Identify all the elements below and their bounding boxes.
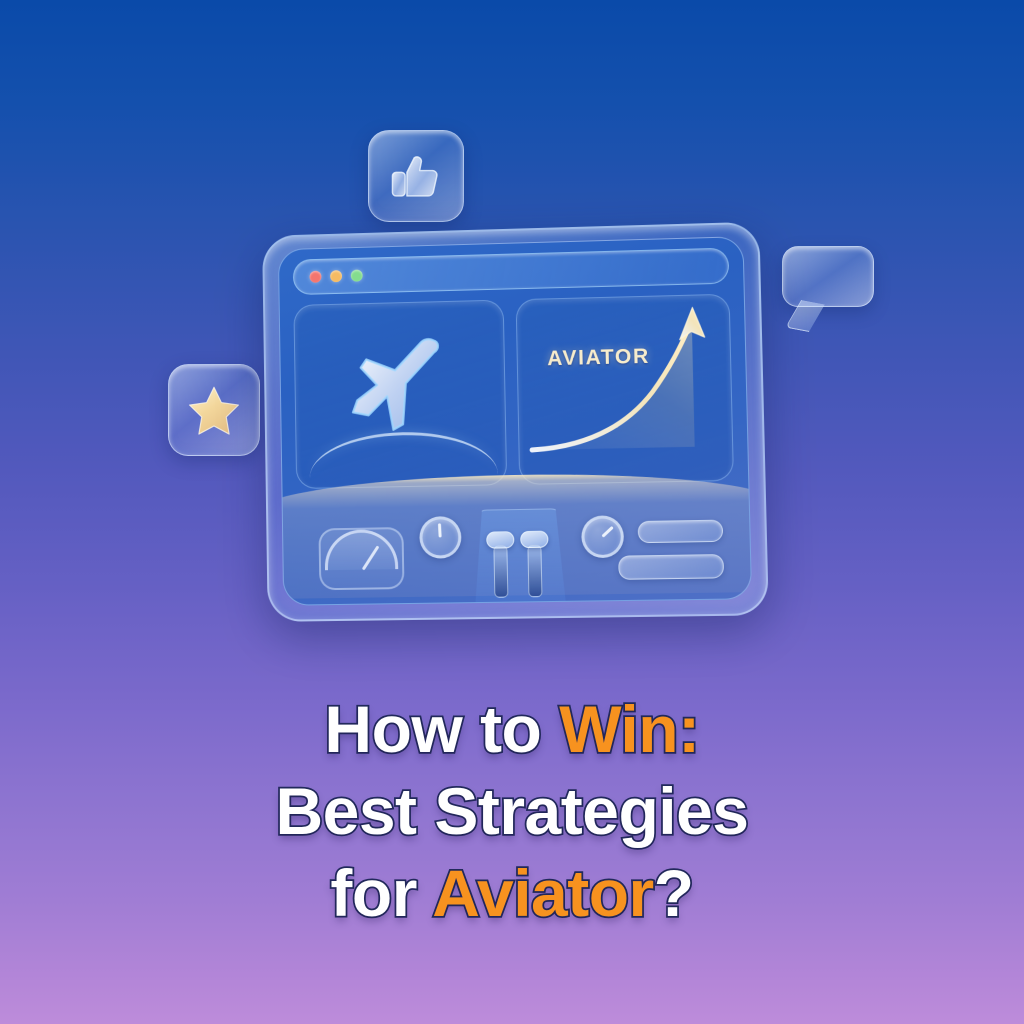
lever-shaft xyxy=(493,545,508,597)
speech-bubble-icon xyxy=(782,246,874,328)
browser-window-illustration: AVIATOR xyxy=(262,222,769,622)
headline-l1-accent: Win: xyxy=(559,692,699,766)
content-panels: AVIATOR xyxy=(293,294,734,489)
compass-dial xyxy=(581,515,624,558)
altimeter-dial xyxy=(419,516,462,559)
poster-canvas: AVIATOR xyxy=(0,0,1024,1024)
panel-airplane xyxy=(293,300,507,490)
headline-l3-question: ? xyxy=(654,856,694,930)
star-icon xyxy=(168,364,260,456)
altimeter-needle xyxy=(438,524,441,538)
status-bar-top xyxy=(638,520,724,544)
minimize-dot[interactable] xyxy=(330,270,342,282)
headline-line-1: How to Win: xyxy=(0,688,1024,770)
compass-needle xyxy=(602,526,614,537)
growth-chart xyxy=(517,295,733,484)
headline-l2-white: Best Strategies xyxy=(275,774,748,848)
thumbs-up-glyph xyxy=(387,147,445,205)
panel-aviator-chart: AVIATOR xyxy=(516,294,734,485)
headline-line-3: for Aviator? xyxy=(0,852,1024,934)
page-title: How to Win: Best Strategies for Aviator? xyxy=(0,688,1024,934)
lever-knob xyxy=(520,531,548,549)
headline-l3-accent: Aviator xyxy=(432,856,653,930)
lever-shaft xyxy=(527,545,542,598)
close-dot[interactable] xyxy=(310,271,322,283)
headline-l3-white: for xyxy=(330,856,432,930)
flight-path-arc xyxy=(309,430,498,478)
thumbs-up-icon xyxy=(368,130,464,222)
window-viewport: AVIATOR xyxy=(278,236,752,606)
headline-l1-white: How to xyxy=(324,692,559,766)
browser-titlebar xyxy=(293,248,730,296)
status-bar-bottom xyxy=(618,554,724,580)
maximize-dot[interactable] xyxy=(351,270,363,282)
star-glyph xyxy=(186,382,242,438)
speech-bubble-body xyxy=(782,246,874,307)
lever-knob xyxy=(486,531,514,549)
throttle-plate xyxy=(473,508,567,606)
headline-line-2: Best Strategies xyxy=(0,770,1024,852)
cockpit-dashboard xyxy=(283,487,752,605)
